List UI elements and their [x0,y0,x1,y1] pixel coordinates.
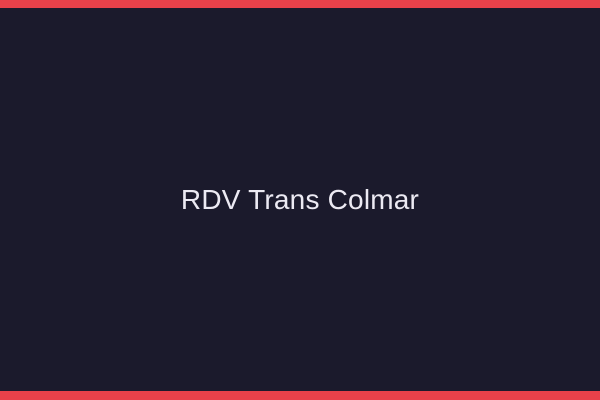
top-accent-bar [0,0,600,8]
card-body: RDV Trans Colmar [0,8,600,391]
placeholder-card: RDV Trans Colmar [0,0,600,400]
bottom-accent-bar [0,391,600,400]
page-title: RDV Trans Colmar [157,183,443,217]
